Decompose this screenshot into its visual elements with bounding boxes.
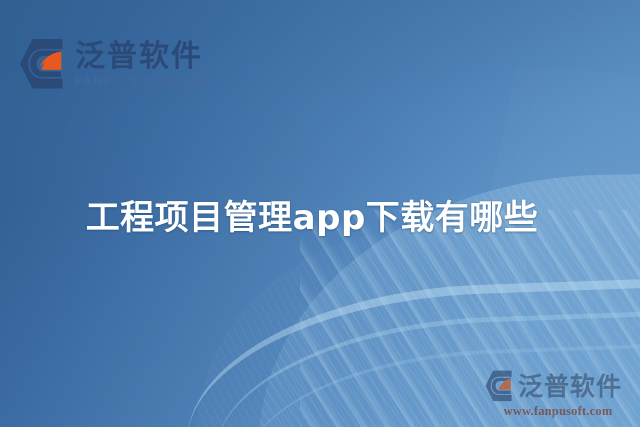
watermark-logo-row: 泛普软件 xyxy=(484,370,632,402)
watermark-url: www.fanpusoft.com xyxy=(484,404,632,419)
page-title: 工程项目管理app下载有哪些 xyxy=(0,190,640,239)
fanpu-shield-logo-icon xyxy=(18,38,66,90)
brand-logo-wordmark: 泛普软件 FANPU SOFTWARE xyxy=(75,41,211,87)
brand-name-cn: 泛普软件 xyxy=(75,41,203,73)
watermark-shield-logo-icon xyxy=(484,370,514,402)
hero-banner: 泛普软件 FANPU SOFTWARE 工程项目管理app下载有哪些 泛普软件 … xyxy=(0,0,640,427)
brand-name-en: FANPU SOFTWARE xyxy=(75,76,211,88)
brand-logo: 泛普软件 FANPU SOFTWARE xyxy=(18,38,211,90)
watermark: 泛普软件 www.fanpusoft.com xyxy=(484,370,632,419)
glass-tower-secondary xyxy=(196,228,526,427)
watermark-brand-name: 泛普软件 xyxy=(518,374,622,399)
